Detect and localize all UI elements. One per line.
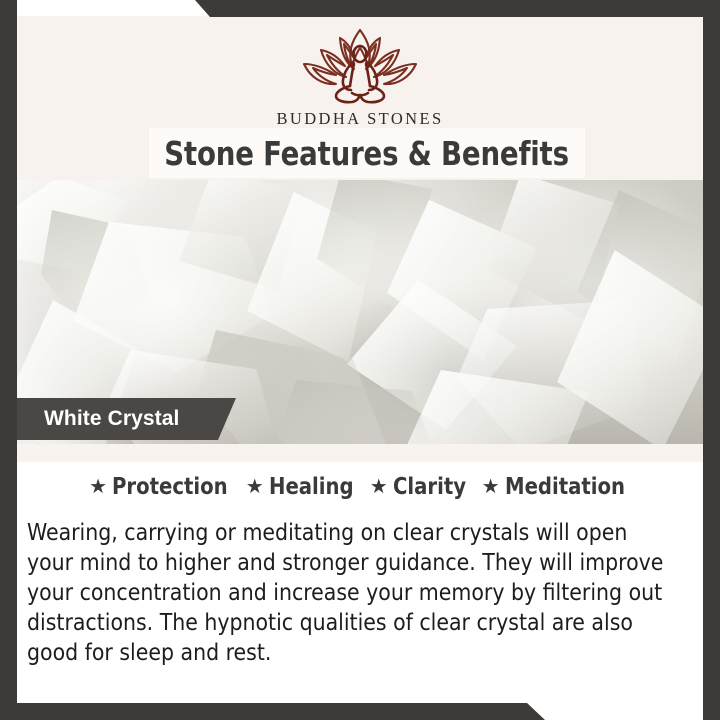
stone-label-text: White Crystal <box>44 398 180 440</box>
feature-label: Meditation <box>505 474 625 500</box>
card-canvas: BUDDHA STONES Stone Features & Benefits <box>17 16 703 704</box>
lotus-meditation-figure-icon <box>280 24 440 108</box>
feature-item: ★ Meditation <box>482 474 631 500</box>
feature-label: Clarity <box>393 474 466 500</box>
feature-label: Healing <box>269 474 354 500</box>
feature-label: Protection <box>112 474 228 500</box>
star-icon: ★ <box>482 477 500 497</box>
stone-label-banner: White Crystal <box>17 398 236 440</box>
title-plaque: Stone Features & Benefits <box>149 128 585 178</box>
page-title: Stone Features & Benefits <box>165 134 570 173</box>
top-ribbon <box>0 0 720 17</box>
star-icon: ★ <box>246 477 264 497</box>
hero-photo: White Crystal <box>17 180 703 444</box>
star-icon: ★ <box>89 477 107 497</box>
bottom-ribbon <box>0 703 720 720</box>
star-icon: ★ <box>370 477 388 497</box>
features-list: ★ Protection ★ Healing ★ Clarity ★ Medit… <box>17 474 703 500</box>
separator-strip <box>17 444 703 462</box>
feature-item: ★ Healing <box>246 474 358 500</box>
description-text: Wearing, carrying or meditating on clear… <box>27 517 673 667</box>
frame-rail-right <box>703 0 720 720</box>
feature-item: ★ Protection <box>89 474 234 500</box>
content-panel: ★ Protection ★ Healing ★ Clarity ★ Medit… <box>17 462 703 704</box>
brand-name: BUDDHA STONES <box>276 109 443 129</box>
infographic-card: BUDDHA STONES Stone Features & Benefits <box>0 0 720 720</box>
brand-header: BUDDHA STONES Stone Features & Benefits <box>17 16 703 178</box>
frame-rail-left <box>0 0 17 720</box>
feature-item: ★ Clarity <box>370 474 470 500</box>
